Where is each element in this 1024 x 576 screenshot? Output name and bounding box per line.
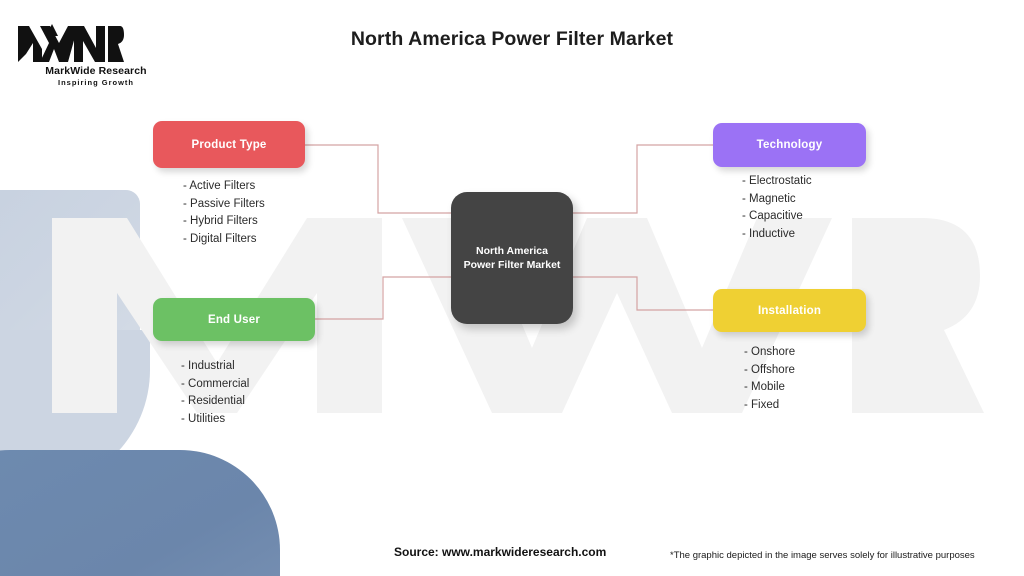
list-item: - Utilities xyxy=(181,411,249,429)
list-item: - Hybrid Filters xyxy=(183,213,265,231)
list-item: - Inductive xyxy=(742,226,812,244)
category-label-product-type: Product Type xyxy=(191,139,266,151)
category-items-technology: - Electrostatic - Magnetic - Capacitive … xyxy=(742,173,812,243)
category-box-product-type[interactable]: Product Type xyxy=(153,121,305,168)
connector-installation xyxy=(572,277,713,310)
disclaimer-text: *The graphic depicted in the image serve… xyxy=(670,550,975,561)
category-box-end-user[interactable]: End User xyxy=(153,298,315,341)
connector-product-type xyxy=(305,145,452,213)
list-item: - Fixed xyxy=(744,397,795,415)
category-label-end-user: End User xyxy=(208,314,260,326)
list-item: - Magnetic xyxy=(742,191,812,209)
connector-end-user xyxy=(315,277,452,319)
list-item: - Commercial xyxy=(181,376,249,394)
center-node-line-2: Power Filter Market xyxy=(464,258,561,272)
category-items-product-type: - Active Filters - Passive Filters - Hyb… xyxy=(183,178,265,248)
source-attribution: Source: www.markwideresearch.com xyxy=(394,545,606,559)
page-title: North America Power Filter Market xyxy=(0,28,1024,51)
list-item: - Electrostatic xyxy=(742,173,812,191)
category-box-installation[interactable]: Installation xyxy=(713,289,866,332)
list-item: - Digital Filters xyxy=(183,231,265,249)
list-item: - Industrial xyxy=(181,358,249,376)
center-node-line-1: North America xyxy=(476,244,548,258)
logo-tagline: Inspiring Growth xyxy=(16,78,176,87)
list-item: - Offshore xyxy=(744,362,795,380)
category-items-installation: - Onshore - Offshore - Mobile - Fixed xyxy=(744,344,795,414)
connector-technology xyxy=(572,145,714,213)
list-item: - Mobile xyxy=(744,379,795,397)
category-items-end-user: - Industrial - Commercial - Residential … xyxy=(181,358,249,428)
category-label-installation: Installation xyxy=(758,305,821,317)
infographic-canvas: MarkWide Research Inspiring Growth North… xyxy=(0,0,1024,576)
list-item: - Active Filters xyxy=(183,178,265,196)
list-item: - Passive Filters xyxy=(183,196,265,214)
category-label-technology: Technology xyxy=(757,139,823,151)
decorative-shape-dark xyxy=(0,450,280,576)
category-box-technology[interactable]: Technology xyxy=(713,123,866,167)
list-item: - Capacitive xyxy=(742,208,812,226)
logo-company-name: MarkWide Research xyxy=(16,65,176,77)
center-node[interactable]: North America Power Filter Market xyxy=(451,192,573,324)
list-item: - Onshore xyxy=(744,344,795,362)
list-item: - Residential xyxy=(181,393,249,411)
